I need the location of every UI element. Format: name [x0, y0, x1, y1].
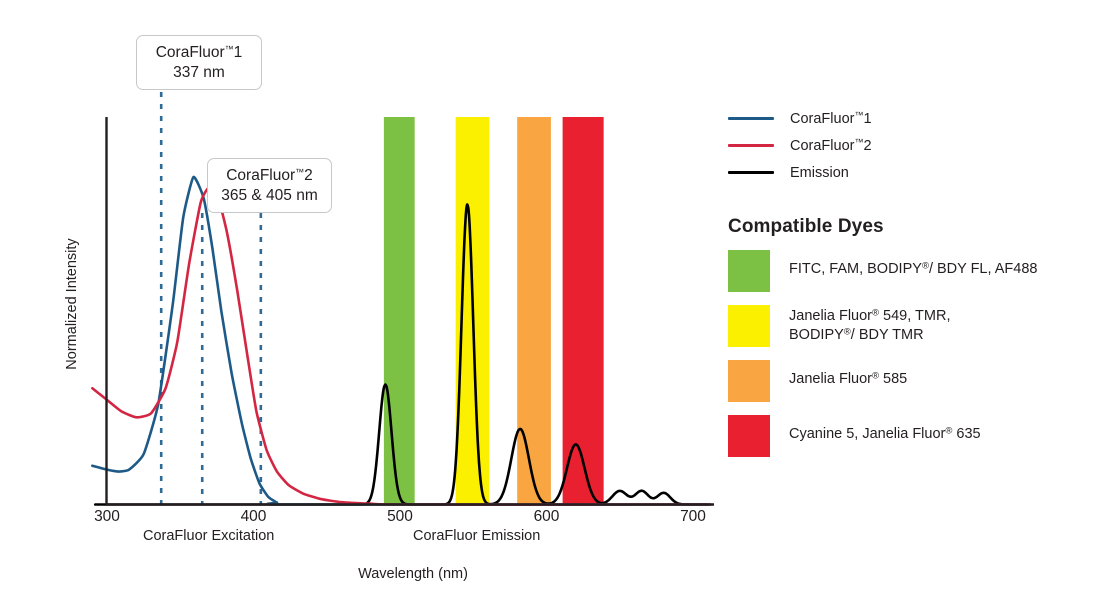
green-band: [384, 117, 415, 505]
x-tick-500: 500: [370, 508, 430, 526]
dye-item-label: FITC, FAM, BODIPY®/ BDY FL, AF488: [789, 250, 1037, 279]
trademark-icon: ™: [854, 110, 863, 120]
y-axis-title: Normalized Intensity: [64, 204, 80, 404]
trademark-icon: ™: [854, 137, 863, 147]
x-tick-700: 700: [663, 508, 723, 526]
callout-corafluor2: CoraFluor™2 365 & 405 nm: [207, 158, 332, 213]
x-tick-300: 300: [77, 508, 137, 526]
legend-item-2[interactable]: CoraFluor™2: [728, 132, 1100, 159]
callout-cf1-line1: CoraFluor™1: [149, 43, 249, 63]
dye-item-2[interactable]: Janelia Fluor® 549, TMR,BODIPY®/ BDY TMR: [728, 305, 1100, 347]
callout-corafluor1: CoraFluor™1 337 nm: [136, 35, 262, 90]
dye-item-4[interactable]: Cyanine 5, Janelia Fluor® 635: [728, 415, 1100, 457]
trademark-icon: ™: [225, 44, 234, 54]
legend-item-label: CoraFluor™2: [790, 137, 872, 154]
orange-band: [517, 117, 551, 505]
dye-item-label: Janelia Fluor® 585: [789, 360, 907, 389]
trademark-icon: ™: [295, 167, 304, 177]
x-tick-400: 400: [224, 508, 284, 526]
dye-color-swatch: [728, 360, 770, 402]
excitation-range-label: CoraFluor Excitation: [143, 528, 274, 544]
dye-label-line1: FITC, FAM, BODIPY®/ BDY FL, AF488: [789, 260, 1037, 279]
legend-line-swatch: [728, 171, 774, 174]
legend-panel: CoraFluor™1CoraFluor™2Emission Compatibl…: [728, 105, 1100, 470]
dye-label-line2: BODIPY®/ BDY TMR: [789, 326, 950, 345]
compatible-dyes-heading: Compatible Dyes: [728, 216, 1100, 238]
dye-item-label: Janelia Fluor® 549, TMR,BODIPY®/ BDY TMR: [789, 305, 950, 345]
dye-band-group: [384, 117, 604, 505]
dye-color-swatch: [728, 250, 770, 292]
series-legend: CoraFluor™1CoraFluor™2Emission: [728, 105, 1100, 186]
dye-label-line1: Cyanine 5, Janelia Fluor® 635: [789, 425, 981, 444]
legend-item-1[interactable]: CoraFluor™1: [728, 105, 1100, 132]
dye-label-line1: Janelia Fluor® 585: [789, 370, 907, 389]
registered-icon: ®: [945, 425, 952, 436]
callout-cf2-line1: CoraFluor™2: [220, 166, 319, 186]
registered-icon: ®: [872, 370, 879, 381]
dye-item-3[interactable]: Janelia Fluor® 585: [728, 360, 1100, 402]
red-band: [563, 117, 604, 505]
x-tick-600: 600: [517, 508, 577, 526]
legend-line-swatch: [728, 117, 774, 120]
registered-icon: ®: [844, 326, 851, 337]
dye-color-swatch: [728, 305, 770, 347]
legend-item-label: Emission: [790, 165, 849, 181]
registered-icon: ®: [872, 307, 879, 318]
legend-item-3[interactable]: Emission: [728, 159, 1100, 186]
x-axis-title: Wavelength (nm): [0, 566, 826, 582]
spectra-figure: CoraFluor™1 337 nm CoraFluor™2 365 & 405…: [0, 0, 1110, 612]
emission-range-label: CoraFluor Emission: [413, 528, 540, 544]
dye-color-swatch: [728, 415, 770, 457]
compatible-dyes-list: FITC, FAM, BODIPY®/ BDY FL, AF488Janelia…: [728, 250, 1100, 457]
dye-item-1[interactable]: FITC, FAM, BODIPY®/ BDY FL, AF488: [728, 250, 1100, 292]
callout-cf1-line2: 337 nm: [149, 63, 249, 83]
legend-line-swatch: [728, 144, 774, 147]
dye-item-label: Cyanine 5, Janelia Fluor® 635: [789, 415, 981, 444]
legend-item-label: CoraFluor™1: [790, 110, 872, 127]
registered-icon: ®: [922, 260, 929, 271]
callout-cf2-line2: 365 & 405 nm: [220, 186, 319, 206]
dye-label-line1: Janelia Fluor® 549, TMR,: [789, 307, 950, 326]
